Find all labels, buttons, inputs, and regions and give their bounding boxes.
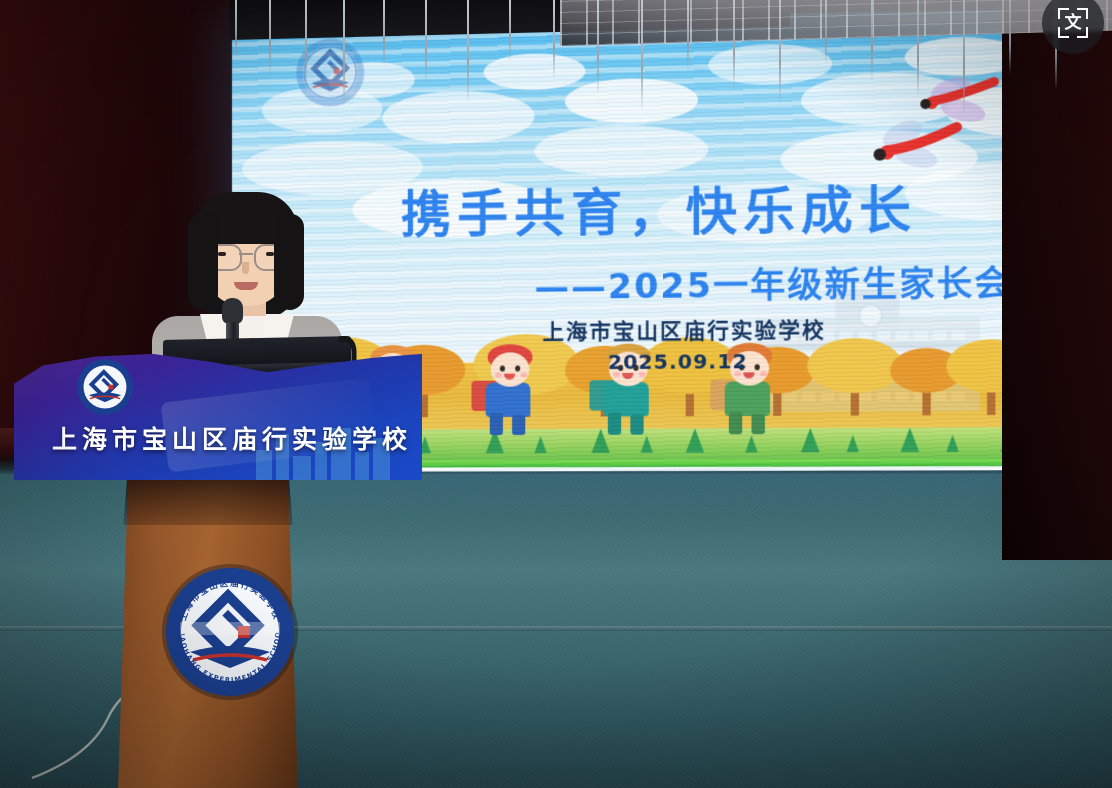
podium-banner-text: 上海市宝山区庙行实验学校	[46, 420, 418, 456]
hanging-rods	[235, 0, 1065, 130]
pine-tree	[534, 436, 546, 453]
child-illustration	[469, 344, 554, 437]
slide-school-name: 上海市宝山区庙行实验学校	[543, 314, 826, 346]
viewfinder-frame-icon: 文	[1058, 8, 1088, 38]
pine-tree	[801, 428, 820, 452]
hanging-rod	[687, 0, 689, 71]
hanging-rod	[733, 0, 735, 88]
building-window	[933, 330, 947, 339]
slide-date: 2025.09.12	[608, 349, 748, 374]
pine-tree	[686, 428, 704, 452]
hanging-rod	[383, 0, 385, 68]
podium-logo-icon	[76, 358, 134, 416]
hanging-rod	[641, 0, 643, 112]
hanging-rod	[305, 0, 307, 92]
hanging-rod	[343, 0, 345, 109]
hanging-rod	[509, 0, 511, 61]
podium: 上海市宝山区庙行实验学校 MIAOHANG EXPERIMENTAL SCHOO…	[8, 350, 428, 788]
pine-tree	[847, 435, 859, 452]
school-emblem: 上海市宝山区庙行实验学校 MIAOHANG EXPERIMENTAL SCHOO…	[160, 562, 300, 702]
hanging-rod	[235, 0, 237, 58]
slide-title: 携手共育，快乐成长	[401, 169, 917, 247]
hanging-rod	[269, 0, 271, 75]
hanging-rod	[467, 0, 469, 102]
slide-subtitle: ——2025一年级新生家长会	[534, 255, 1011, 309]
hanging-rod	[871, 0, 873, 81]
translate-glyph: 文	[1058, 8, 1088, 38]
pine-tree	[641, 436, 653, 453]
hanging-rod	[779, 0, 781, 105]
hanging-rod	[597, 0, 599, 95]
screenshot-root: 携手共育，快乐成长 ——2025一年级新生家长会 上海市宝山区庙行实验学校 20…	[0, 0, 1112, 788]
hanging-rod	[553, 0, 555, 78]
pine-tree	[901, 428, 920, 453]
hanging-rod	[917, 0, 919, 98]
hanging-rod	[1009, 0, 1011, 74]
podium-banner: 上海市宝山区庙行实验学校	[14, 350, 422, 480]
pine-tree	[946, 435, 959, 452]
hanging-rod	[825, 0, 827, 64]
hanging-rod	[963, 0, 965, 115]
pine-tree	[745, 435, 757, 452]
hanging-rod	[425, 0, 427, 85]
building-window	[914, 331, 928, 340]
